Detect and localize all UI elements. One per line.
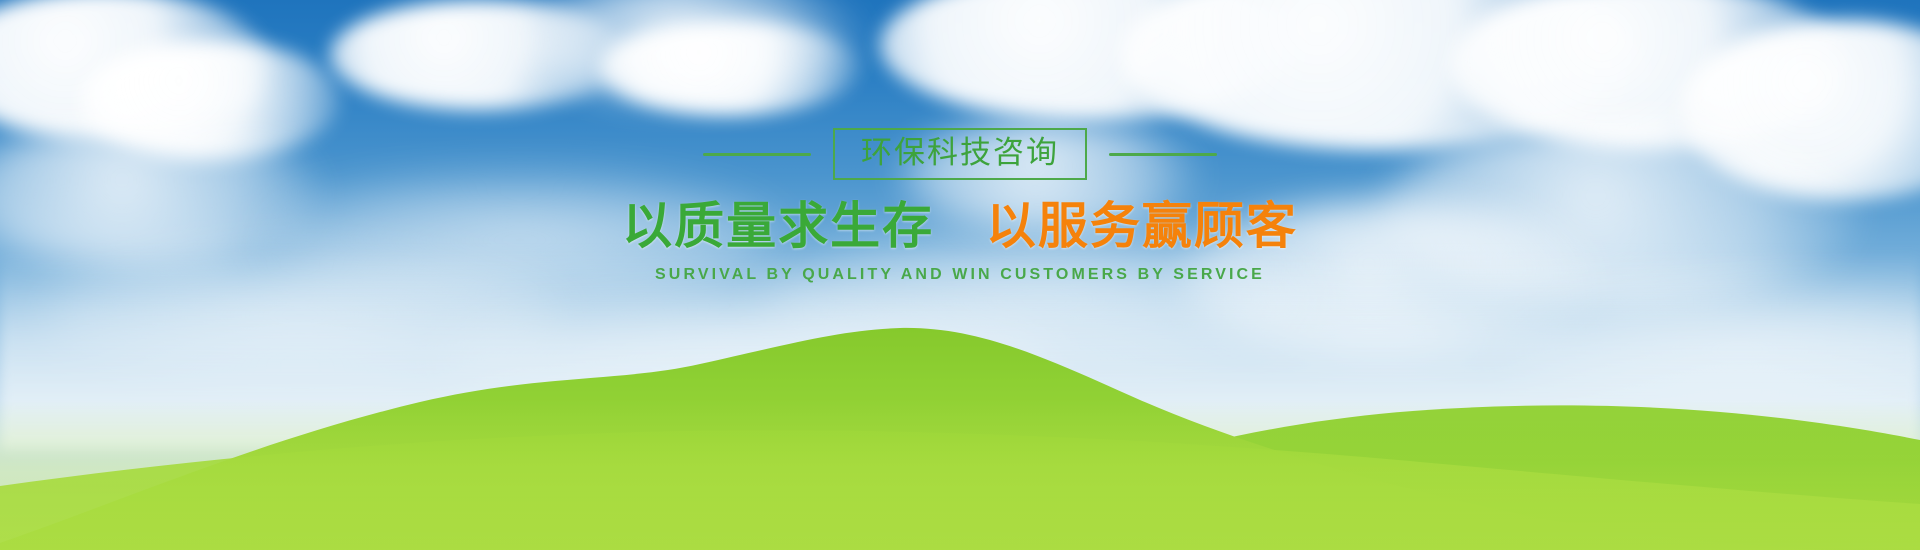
hero-banner: 环保科技咨询 以质量求生存 以服务赢顾客 SURVIVAL BY QUALITY… (0, 0, 1920, 550)
category-chip: 环保科技咨询 (833, 128, 1087, 180)
eyebrow-row: 环保科技咨询 (0, 128, 1920, 180)
cloud-shape (600, 20, 860, 115)
category-chip-label: 环保科技咨询 (861, 135, 1059, 170)
banner-content: 环保科技咨询 以质量求生存 以服务赢顾客 SURVIVAL BY QUALITY… (0, 128, 1920, 284)
hills-svg (0, 290, 1920, 550)
headline-part-orange: 以服务赢顾客 (986, 198, 1298, 254)
headline-part-green: 以质量求生存 (622, 198, 934, 254)
right-rule-decoration (1109, 153, 1217, 156)
grass-hills (0, 290, 1920, 550)
left-rule-decoration (703, 153, 811, 156)
subtitle: SURVIVAL BY QUALITY AND WIN CUSTOMERS BY… (0, 266, 1920, 284)
headline: 以质量求生存 以服务赢顾客 (0, 198, 1920, 254)
